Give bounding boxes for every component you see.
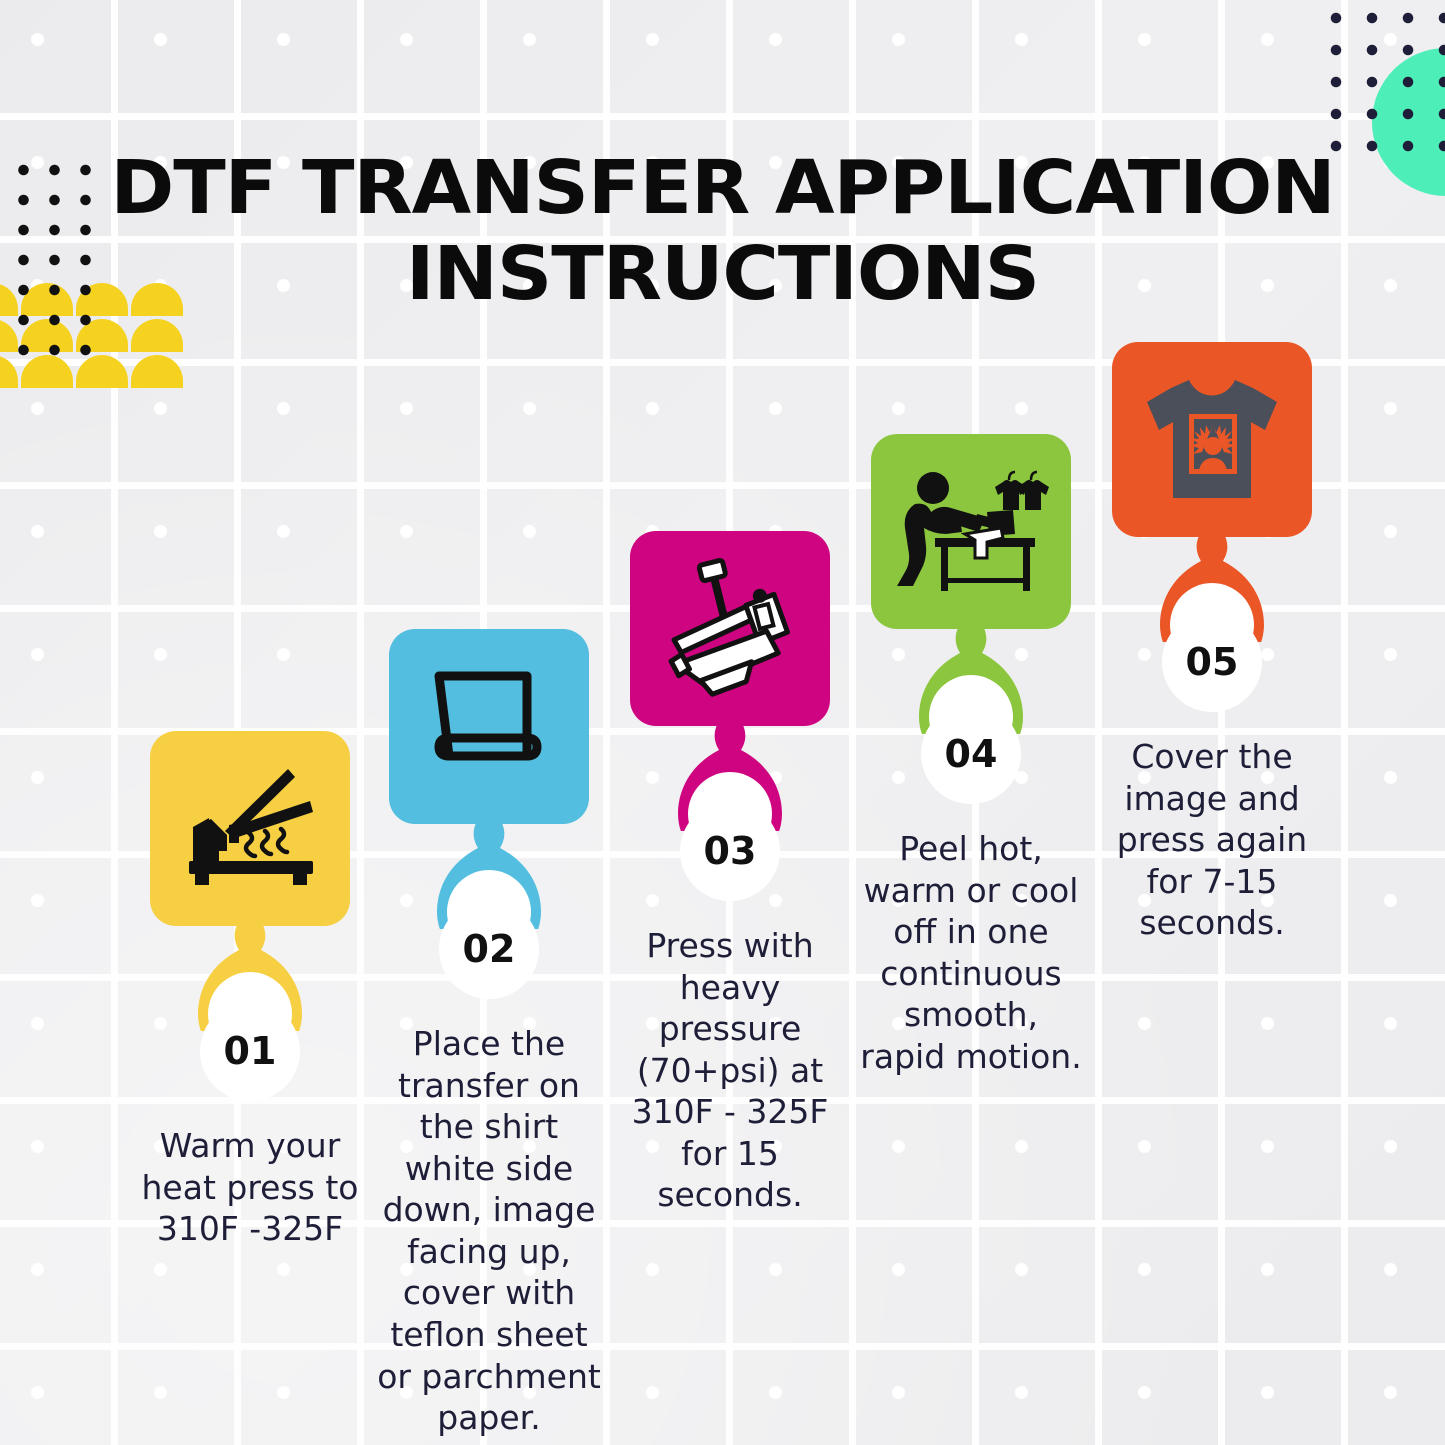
step-01-bubble-wrap: 01 bbox=[134, 1001, 366, 1101]
step-05-bubble-wrap: 05 bbox=[1096, 612, 1328, 712]
step-01-icon-card[interactable] bbox=[150, 731, 350, 926]
infographic-canvas: 01 Warm your heat press to 310F -325F bbox=[0, 0, 1445, 1445]
step-01-caption: Warm your heat press to 310F -325F bbox=[134, 1125, 366, 1250]
step-02-bubble-wrap: 02 bbox=[373, 899, 605, 999]
step-03-neck bbox=[614, 724, 846, 802]
step-01-number: 01 bbox=[200, 1001, 300, 1101]
step-03-icon-card[interactable] bbox=[630, 531, 830, 726]
step-04-number: 04 bbox=[921, 704, 1021, 804]
step-03[interactable]: 03 Press with heavy pressure (70+psi) at… bbox=[614, 531, 846, 1216]
step-01-neck bbox=[134, 924, 366, 1002]
heat-press-open-icon bbox=[175, 765, 325, 893]
step-02-number: 02 bbox=[439, 899, 539, 999]
step-02[interactable]: 02 Place the transfer on the shirt white… bbox=[373, 629, 605, 1439]
step-05-caption: Cover the image and press again for 7-15… bbox=[1096, 736, 1328, 944]
transfer-sheet-icon bbox=[423, 666, 555, 788]
step-02-neck bbox=[373, 822, 605, 900]
step-04-neck bbox=[855, 627, 1087, 705]
step-01[interactable]: 01 Warm your heat press to 310F -325F bbox=[134, 731, 366, 1250]
peel-transfer-person-icon bbox=[891, 462, 1051, 602]
step-04-bubble-wrap: 04 bbox=[855, 704, 1087, 804]
step-04[interactable]: 04 Peel hot, warm or cool off in one con… bbox=[855, 434, 1087, 1077]
step-05-neck bbox=[1096, 535, 1328, 613]
step-03-caption: Press with heavy pressure (70+psi) at 31… bbox=[614, 925, 846, 1216]
step-05-number: 05 bbox=[1162, 612, 1262, 712]
step-03-number: 03 bbox=[680, 801, 780, 901]
heat-press-machine-icon bbox=[655, 554, 805, 704]
step-05[interactable]: 05 Cover the image and press again for 7… bbox=[1096, 342, 1328, 944]
page-title: DTF TRANSFER APPLICATION INSTRUCTIONS bbox=[0, 146, 1445, 318]
printed-tshirt-icon bbox=[1137, 370, 1287, 510]
step-03-bubble-wrap: 03 bbox=[614, 801, 846, 901]
step-04-caption: Peel hot, warm or cool off in one contin… bbox=[855, 828, 1087, 1077]
step-05-icon-card[interactable] bbox=[1112, 342, 1312, 537]
step-04-icon-card[interactable] bbox=[871, 434, 1071, 629]
step-02-caption: Place the transfer on the shirt white si… bbox=[373, 1023, 605, 1439]
step-02-icon-card[interactable] bbox=[389, 629, 589, 824]
